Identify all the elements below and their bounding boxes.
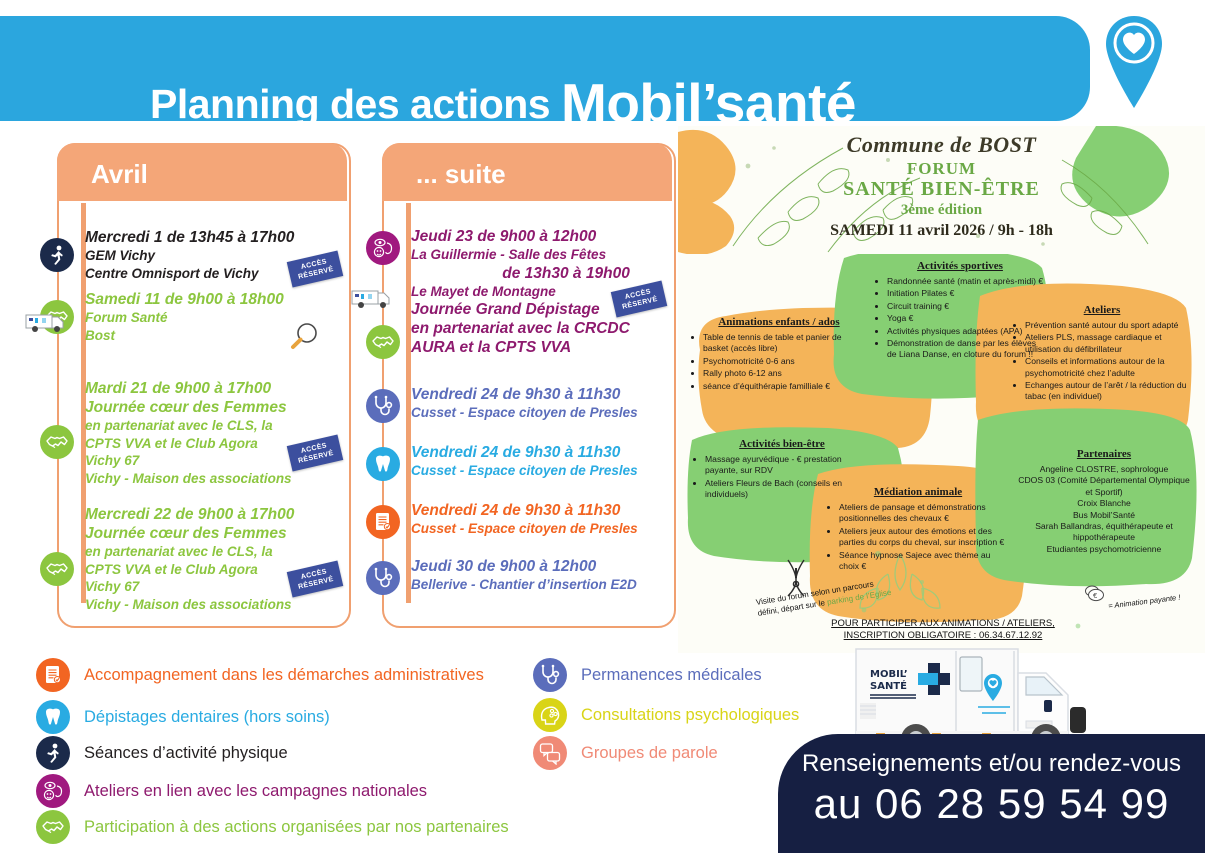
- poster-root: Planning des actions Mobil’santé Avril M…: [0, 0, 1205, 853]
- block-item: Echanges autour de l’arêt / la réduction…: [1025, 380, 1192, 403]
- event-line: Vichy - Maison des associations: [85, 470, 292, 488]
- block-item: Ateliers de pansage et démonstrations po…: [839, 502, 1010, 525]
- event-line: CPTS VVA et le Club Agora: [85, 561, 294, 579]
- event-line: Vendredi 24 de 9h30 à 11h30: [411, 385, 638, 404]
- block-title: Partenaires: [1014, 448, 1194, 460]
- event-line: Mardi 21 de 9h00 à 17h00: [85, 379, 292, 398]
- physical-activity-icon: [40, 238, 74, 272]
- document-admin-icon: [366, 505, 400, 539]
- legend-item-permanences-medicales: Permanences médicales: [533, 658, 762, 692]
- event-line: Journée cœur des Femmes: [85, 398, 292, 417]
- block-item: Bus Mobil’Santé: [1014, 510, 1194, 521]
- event-line: Jeudi 30 de 9h00 à 12h00: [411, 557, 637, 576]
- flyer-date: SAMEDI 11 avril 2026 / 9h - 18h: [678, 222, 1205, 240]
- event-line: Samedi 11 de 9h00 à 18h00: [85, 290, 284, 309]
- flyer-edition: 3ème édition: [678, 202, 1205, 219]
- legend-label: Ateliers en lien avec les campagnes nati…: [84, 782, 427, 801]
- event-line: Vendredi 24 de 9h30 à 11h30: [411, 443, 638, 462]
- event-suite-1: Vendredi 24 de 9h30 à 11h30 Cusset - Esp…: [411, 385, 638, 422]
- contact-panel: Renseignements et/ou rendez-vous au 06 2…: [778, 734, 1205, 853]
- legend-item-groupes-de-parole: Groupes de parole: [533, 736, 718, 770]
- block-item: Rally photo 6-12 ans: [703, 368, 868, 379]
- svg-text:SANTÉ: SANTÉ: [870, 679, 907, 692]
- event-line: Vichy 67: [85, 452, 292, 470]
- event-line: Cusset - Espace citoyen de Presles: [411, 462, 638, 480]
- event-line: GEM Vichy: [85, 247, 294, 265]
- flyer-footer-line1: POUR PARTICIPER AUX ANIMATIONS / ATELIER…: [831, 618, 1055, 629]
- legend-label: Groupes de parole: [581, 744, 718, 763]
- block-item: Angeline CLOSTRE, sophrologue: [1014, 464, 1194, 475]
- block-item: Randonnée santé (matin et après-midi) €: [887, 276, 1046, 287]
- event-suite-4: Jeudi 30 de 9h00 à 12h00 Bellerive - Cha…: [411, 557, 637, 594]
- location-pin-heart-icon: [1104, 14, 1164, 110]
- legend-item-activite-physique: Séances d’activité physique: [36, 736, 288, 770]
- event-line: Vichy - Maison des associations: [85, 596, 294, 614]
- handshake-icon: [36, 810, 70, 844]
- speech-bubbles-icon: [533, 736, 567, 770]
- legend-item-campagnes-nationales: Ateliers en lien avec les campagnes nati…: [36, 774, 427, 808]
- block-item: Table de tennis de table et panier de ba…: [703, 332, 868, 355]
- card-avril-header: Avril: [57, 143, 347, 201]
- stethoscope-icon: [533, 658, 567, 692]
- mobile-clinic-van-icon: [350, 286, 396, 315]
- forum-flyer: Commune de BOST FORUM SANTÉ BIEN-ÊTRE 3è…: [678, 126, 1205, 653]
- document-admin-icon: [36, 658, 70, 692]
- page-title-prefix: Planning des actions: [150, 81, 550, 127]
- stethoscope-icon: [366, 389, 400, 423]
- event-line: de 13h30 à 19h00: [411, 264, 630, 283]
- flyer-commune: Commune de BOST: [678, 132, 1205, 158]
- block-item: Ateliers PLS, massage cardiaque et utili…: [1025, 332, 1192, 355]
- block-item: CDOS 03 (Comité Départemental Olympique …: [1014, 475, 1194, 498]
- block-item: Etudiantes psychomotricienne: [1014, 544, 1194, 555]
- block-item: Sarah Ballandras, équithérapeute et hipp…: [1014, 521, 1194, 544]
- page-title-brand: Mobil’santé: [561, 72, 856, 134]
- block-item: Séance hypnose Sajece avec thème au choi…: [839, 550, 1010, 573]
- event-line: Mercredi 1 de 13h45 à 17h00: [85, 228, 294, 247]
- block-title: Médiation animale: [826, 486, 1010, 498]
- block-item: Massage ayurvédique - € prestation payan…: [705, 454, 872, 477]
- event-line: Bost: [85, 327, 284, 345]
- flyer-forum: FORUM: [678, 159, 1205, 179]
- event-suite-2: Vendredi 24 de 9h30 à 11h30 Cusset - Esp…: [411, 443, 638, 480]
- event-line: Centre Omnisport de Vichy: [85, 265, 294, 283]
- national-campaigns-icon: [36, 774, 70, 808]
- contact-line1: Renseignements et/ou rendez-vous: [778, 750, 1205, 778]
- block-title: Activités sportives: [874, 260, 1046, 272]
- event-suite-3: Vendredi 24 de 9h30 à 11h30 Cusset - Esp…: [411, 501, 638, 538]
- flyer-block-ateliers: Ateliers Prévention santé autour du spor…: [1012, 304, 1192, 404]
- event-line: Le Mayet de Montagne: [411, 283, 630, 301]
- physical-activity-icon: [36, 736, 70, 770]
- tooth-icon: [36, 700, 70, 734]
- legend-label: Permanences médicales: [581, 666, 762, 685]
- event-line: en partenariat avec le CLS, la: [85, 417, 292, 435]
- event-line: Cusset - Espace citoyen de Presles: [411, 520, 638, 538]
- header-bar: Planning des actions Mobil’santé: [0, 16, 1090, 121]
- event-avril-0: Mercredi 1 de 13h45 à 17h00 GEM Vichy Ce…: [85, 228, 294, 282]
- coins-euro-icon: €: [1083, 583, 1109, 610]
- flyer-block-animations-enfants: Animations enfants / ados Table de tenni…: [690, 316, 868, 393]
- legend-label: Participation à des actions organisées p…: [84, 818, 509, 837]
- block-title: Animations enfants / ados: [690, 316, 868, 328]
- magnifier-icon: [288, 320, 324, 361]
- handshake-icon: [40, 425, 74, 459]
- legend-item-administratif: Accompagnement dans les démarches admini…: [36, 658, 484, 692]
- event-line: Vichy 67: [85, 578, 294, 596]
- event-line: Vendredi 24 de 9h30 à 11h30: [411, 501, 638, 520]
- legend-item-dentaire: Dépistages dentaires (hors soins): [36, 700, 330, 734]
- flyer-block-partenaires: Partenaires Angeline CLOSTRE, sophrologu…: [1014, 448, 1194, 555]
- block-item: Prévention santé autour du sport adapté: [1025, 320, 1192, 331]
- block-item: Ateliers jeux autour des émotions et des…: [839, 526, 1010, 549]
- event-line: Bellerive - Chantier d’insertion E2D: [411, 576, 637, 594]
- event-line: Journée Grand Dépistage: [411, 300, 630, 319]
- event-line: AURA et la CPTS VVA: [411, 338, 630, 357]
- svg-text:MOBIL’: MOBIL’: [870, 669, 908, 680]
- event-line: en partenariat avec la CRCDC: [411, 319, 630, 338]
- legend-label: Séances d’activité physique: [84, 744, 288, 763]
- legend-label: Dépistages dentaires (hors soins): [84, 708, 330, 727]
- flyer-header: Commune de BOST FORUM SANTÉ BIEN-ÊTRE 3è…: [678, 126, 1205, 254]
- flyer-footer-line2: INSCRIPTION OBLIGATOIRE : 06.34.67.12.92: [844, 630, 1043, 641]
- event-avril-3: Mercredi 22 de 9h00 à 17h00 Journée cœur…: [85, 505, 294, 613]
- handshake-icon: [40, 552, 74, 586]
- block-item: Psychomotricité 0-6 ans: [703, 356, 868, 367]
- flyer-theme: SANTÉ BIEN-ÊTRE: [678, 178, 1205, 201]
- mobile-clinic-van-icon: [24, 310, 70, 339]
- block-item: Conseils et informations autour de la ps…: [1025, 356, 1192, 379]
- event-line: Jeudi 23 de 9h00 à 12h00: [411, 227, 630, 246]
- card-suite-title: ... suite: [416, 159, 506, 190]
- card-suite-header: ... suite: [382, 143, 672, 201]
- event-line: en partenariat avec le CLS, la: [85, 543, 294, 561]
- event-line: Journée cœur des Femmes: [85, 524, 294, 543]
- event-avril-1: Samedi 11 de 9h00 à 18h00 Forum Santé Bo…: [85, 290, 284, 344]
- event-line: La Guillermie - Salle des Fêtes: [411, 246, 630, 264]
- event-line: Mercredi 22 de 9h00 à 17h00: [85, 505, 294, 524]
- contact-phone-number: au 06 28 59 54 99: [778, 780, 1205, 828]
- legend-label: Consultations psychologiques: [581, 706, 799, 725]
- national-campaigns-icon: [366, 231, 400, 265]
- tooth-icon: [366, 447, 400, 481]
- handshake-icon: [366, 325, 400, 359]
- svg-text:€: €: [1093, 592, 1097, 600]
- card-avril-title: Avril: [91, 159, 148, 190]
- flyer-footer: POUR PARTICIPER AUX ANIMATIONS / ATELIER…: [778, 618, 1108, 642]
- exclamation-marker-icon: [779, 556, 813, 605]
- event-suite-0: Jeudi 23 de 9h00 à 12h00 La Guillermie -…: [411, 227, 630, 357]
- legend-item-consultations-psychologiques: Consultations psychologiques: [533, 698, 799, 732]
- block-item: séance d’équithérapie familliale €: [703, 381, 868, 392]
- event-line: CPTS VVA et le Club Agora: [85, 435, 292, 453]
- legend-label: Accompagnement dans les démarches admini…: [84, 666, 484, 685]
- event-avril-2: Mardi 21 de 9h00 à 17h00 Journée cœur de…: [85, 379, 292, 487]
- block-title: Activités bien-être: [692, 438, 872, 450]
- stethoscope-icon: [366, 561, 400, 595]
- legend-item-partenaires: Participation à des actions organisées p…: [36, 810, 509, 844]
- event-line: Cusset - Espace citoyen de Presles: [411, 404, 638, 422]
- psychology-head-icon: [533, 698, 567, 732]
- block-item: Croix Blanche: [1014, 498, 1194, 509]
- flyer-block-mediation-animale: Médiation animale Ateliers de pansage et…: [826, 486, 1010, 573]
- event-line: Forum Santé: [85, 309, 284, 327]
- block-title: Ateliers: [1012, 304, 1192, 316]
- block-item: Initiation Pilates €: [887, 288, 1046, 299]
